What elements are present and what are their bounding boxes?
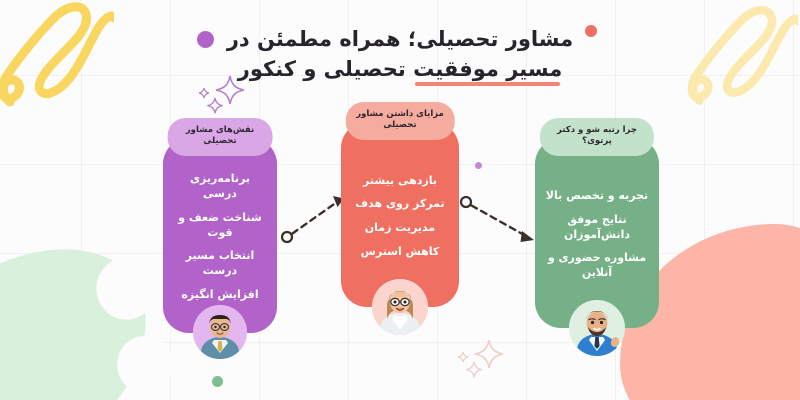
card-why[interactable]: چرا رتبه شو و دکتر پرتوی؟ تجربه و تخصص ب… (535, 138, 659, 328)
male-counselor-avatar (569, 300, 625, 356)
card-why-items: تجربه و تخصص بالا نتایج موفق دانش‌آموزان… (535, 172, 659, 298)
leaf-blob-shape (0, 238, 160, 400)
list-item: نتایج موفق دانش‌آموزان (544, 213, 650, 242)
infographic-canvas: مشاور تحصیلی؛ همراه مطمئن در مسیر موفقیت… (0, 0, 800, 400)
list-item: انتخاب مسیر درست (172, 249, 268, 278)
list-item: تمرکز روی هدف (350, 197, 450, 212)
female-counselor-avatar (372, 279, 428, 335)
card-benefits-header: مزایای داشتن مشاور تحصیلی (346, 102, 455, 140)
dot-green-bottom (212, 376, 223, 387)
card-roles-header: نقش‌های مشاور تحصیلی (168, 118, 273, 156)
page-title-line-1: مشاور تحصیلی؛ همراه مطمئن در (0, 25, 800, 55)
list-item: بازدهی بیشتر (350, 174, 450, 189)
card-roles-items: برنامه‌ریزی درسی شناخت ضعف و قوت انتخاب … (163, 172, 277, 303)
list-item: برنامه‌ریزی درسی (172, 172, 268, 201)
card-roles[interactable]: نقش‌های مشاور تحصیلی برنامه‌ریزی درسی شن… (163, 138, 277, 333)
sparkle-icon (455, 336, 513, 388)
list-item: مدیریت زمان (350, 221, 450, 236)
connector-benefits-to-why (456, 192, 544, 264)
list-item: مشاوره حضوری و آنلاین (544, 251, 650, 280)
page-title: مشاور تحصیلی؛ همراه مطمئن در مسیر موفقیت… (0, 25, 800, 85)
list-item: کاهش استرس (350, 245, 450, 260)
dot-purple-mid (475, 162, 482, 169)
list-item: تجربه و تخصص بالا (544, 189, 650, 204)
page-title-line-2: مسیر موفقیت تحصیلی و کنکور (0, 55, 800, 85)
student-avatar (193, 305, 247, 359)
card-why-header: چرا رتبه شو و دکتر پرتوی؟ (540, 118, 654, 156)
page-title-line-2-rest: تحصیلی و کنکور (238, 57, 413, 81)
card-benefits-items: بازدهی بیشتر تمرکز روی هدف مدیریت زمان ک… (341, 156, 459, 277)
list-item: افزایش انگیزه (172, 288, 268, 303)
card-benefits[interactable]: مزایای داشتن مشاور تحصیلی بازدهی بیشتر ت… (341, 122, 459, 307)
page-title-underlined: مسیر موفقیت (413, 55, 562, 85)
list-item: شناخت ضعف و قوت (172, 211, 268, 240)
